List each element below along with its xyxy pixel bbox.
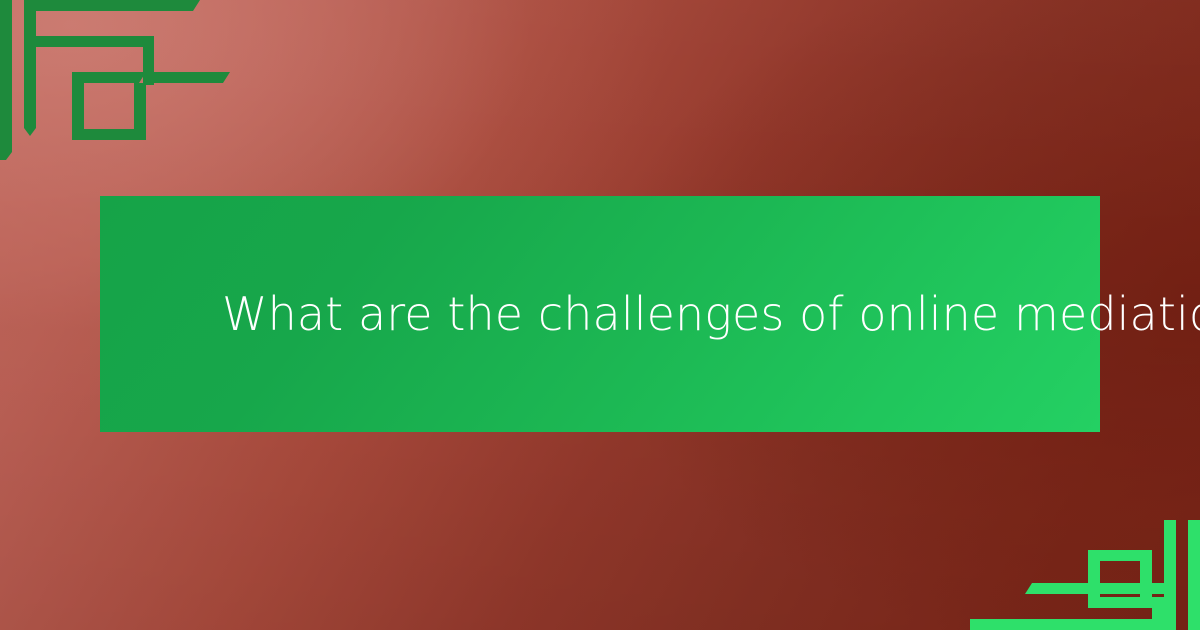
headline-banner: What are the challenges of online mediat… <box>100 196 1100 432</box>
poster-canvas: What are the challenges of online mediat… <box>0 0 1200 630</box>
page-title: What are the challenges of online mediat… <box>100 288 1200 341</box>
